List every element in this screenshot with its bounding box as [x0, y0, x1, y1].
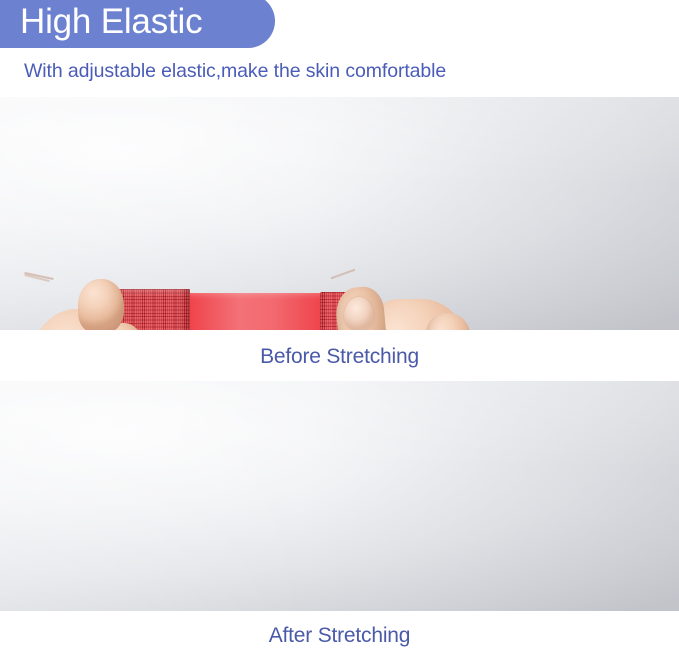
caption-band-after: After Stretching [0, 611, 679, 650]
header-subtitle: With adjustable elastic,make the skin co… [24, 58, 446, 84]
high-elastic-badge: High Elastic [0, 0, 275, 48]
photo-before-stretching [0, 97, 679, 330]
badge-label: High Elastic [20, 0, 202, 44]
left-hand-before [24, 275, 156, 330]
right-hand-crease [330, 269, 355, 280]
right-hand-thumbnail [344, 297, 374, 330]
photo-after-stretching [0, 381, 679, 611]
caption-before-stretching: Before Stretching [260, 346, 419, 367]
bandage-span-before [186, 293, 326, 330]
right-hand-before [330, 273, 480, 330]
panel-after-stretching: After Stretching [0, 381, 679, 650]
caption-after-stretching: After Stretching [269, 625, 411, 646]
left-hand-thumb [78, 279, 124, 330]
header: High Elastic With adjustable elastic,mak… [0, 0, 679, 96]
panel-before-stretching: Before Stretching [0, 97, 679, 378]
caption-band-before: Before Stretching [0, 330, 679, 378]
